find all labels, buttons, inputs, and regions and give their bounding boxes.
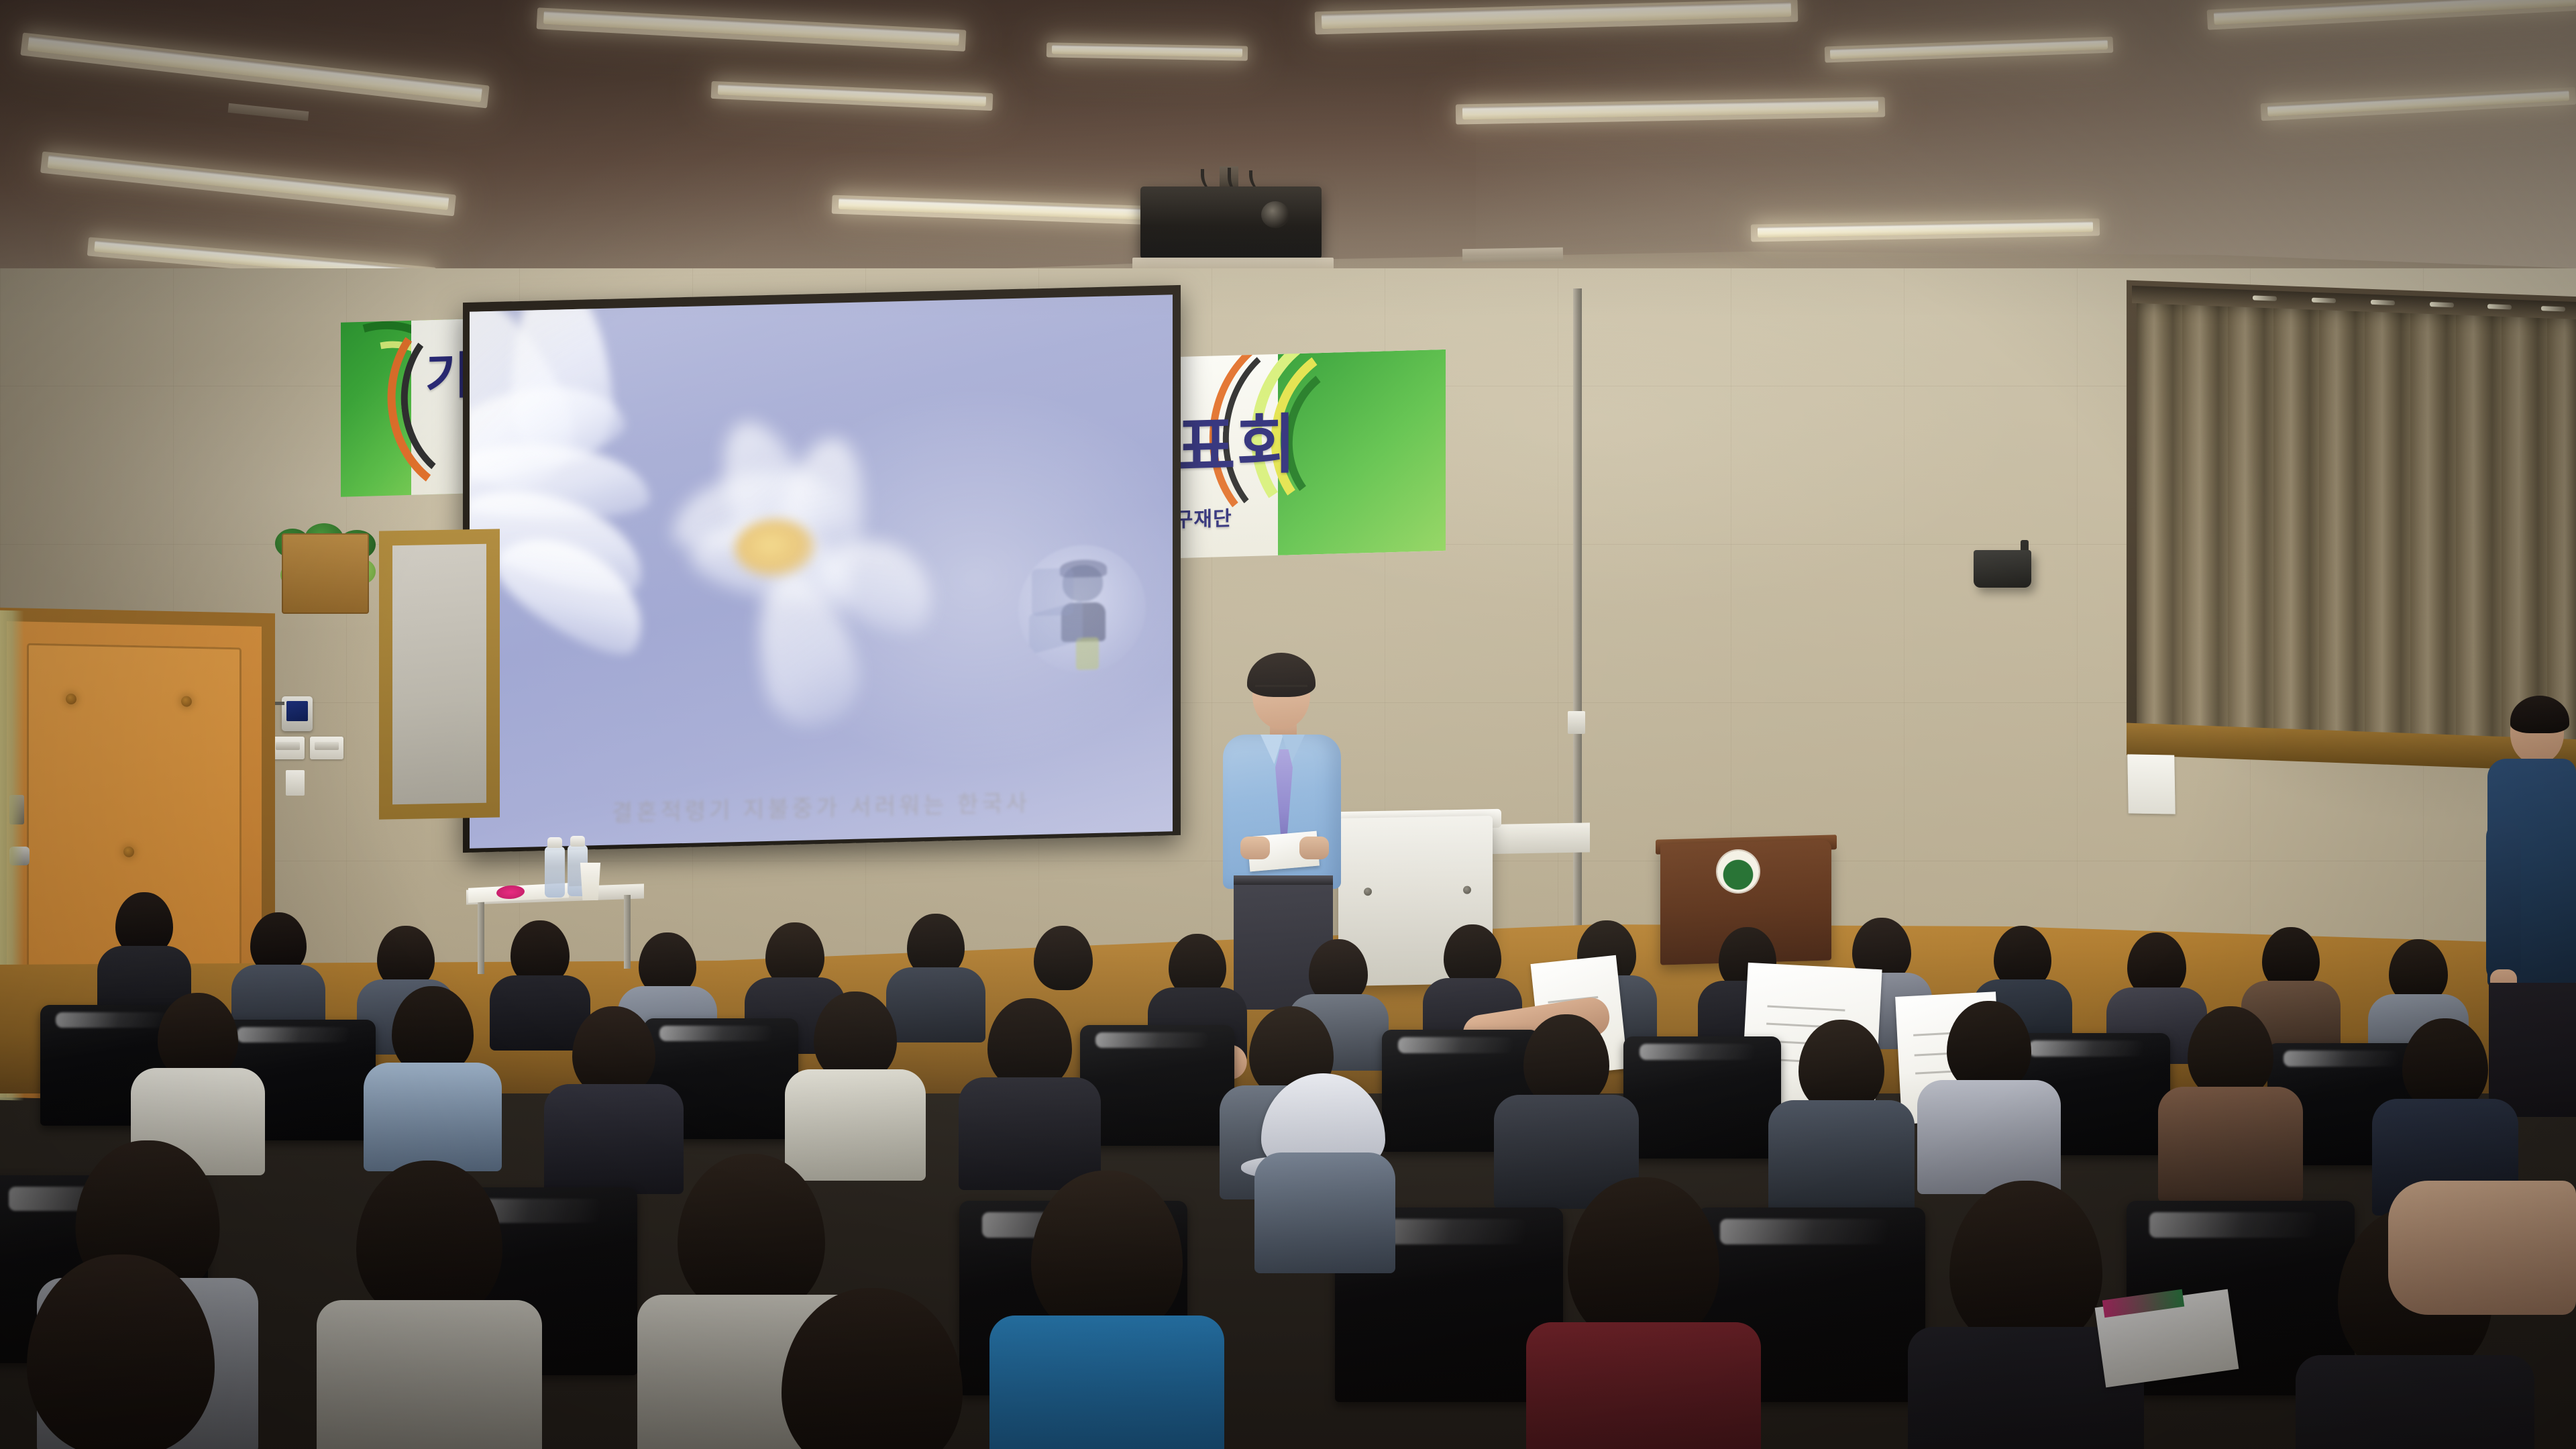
- wall-frame-panel: [392, 544, 486, 804]
- conduit-junction-box: [1568, 711, 1585, 734]
- flower-basket: [282, 533, 369, 614]
- audience-member: [973, 998, 1087, 1152]
- audience-member: [1254, 1152, 1395, 1273]
- projector-lens-icon: [1261, 201, 1289, 228]
- audience-member: [1784, 1020, 1898, 1174]
- wall-speaker: [1974, 550, 2031, 588]
- auditorium-seat[interactable]: [1623, 1036, 1781, 1159]
- light-switch[interactable]: [271, 737, 305, 759]
- audience-member: [376, 986, 490, 1140]
- foreground-arm: [2388, 1181, 2576, 1315]
- audience-member: [349, 1161, 510, 1415]
- ceiling-projector: [1140, 186, 1322, 259]
- wall-outlet[interactable]: [286, 770, 305, 796]
- auditorium-seat[interactable]: [1080, 1025, 1234, 1146]
- ceiling-vent: [1462, 248, 1563, 263]
- glasses-icon: [1255, 685, 1307, 696]
- audience-member: [2173, 1006, 2288, 1161]
- audience-member: [1932, 1001, 2046, 1155]
- cartoon-character-icon: [1018, 543, 1146, 674]
- podium-screw: [1364, 888, 1372, 896]
- audience-member: [1509, 1014, 1623, 1169]
- belt: [1234, 875, 1333, 885]
- door-tuft: [66, 694, 76, 704]
- audience-member: [771, 1288, 973, 1449]
- audience-member: [101, 892, 188, 1000]
- presenter-hand: [1299, 837, 1329, 859]
- auditorium-photo: 기 발표회 한국연구재단: [0, 0, 2576, 1449]
- control-panel-display: [286, 701, 308, 721]
- audience-member: [1945, 1181, 2106, 1436]
- door-tuft: [181, 696, 192, 706]
- wall-notice-paper: [2127, 754, 2176, 814]
- projection-screen: 결혼적령기 지불중가 서러워는 한국사: [470, 294, 1173, 849]
- door-tuft: [123, 847, 134, 857]
- attendee-arm: [2486, 822, 2521, 983]
- banner-left-panel: 기: [341, 319, 475, 497]
- audience-member: [2388, 1018, 2502, 1173]
- window-curtain[interactable]: [2137, 295, 2576, 754]
- wall-conduit: [1573, 288, 1582, 966]
- audience-member: [1026, 1171, 1187, 1426]
- table-leg: [478, 900, 484, 974]
- light-switch[interactable]: [310, 737, 343, 759]
- water-bottle[interactable]: [545, 847, 565, 898]
- audience-member: [141, 993, 255, 1147]
- audience-member: [798, 991, 912, 1146]
- podium-screw: [1463, 886, 1471, 894]
- audience-member: [20, 1254, 221, 1449]
- institution-crest-icon: [1717, 851, 1759, 892]
- presenter-hand: [1240, 837, 1270, 859]
- screen-caption-text: 결혼적령기 지불중가 서러워는 한국사: [470, 781, 1173, 831]
- audience-member: [1563, 1177, 1724, 1432]
- attendee-hair: [2510, 696, 2569, 733]
- audience-member: [557, 1006, 671, 1161]
